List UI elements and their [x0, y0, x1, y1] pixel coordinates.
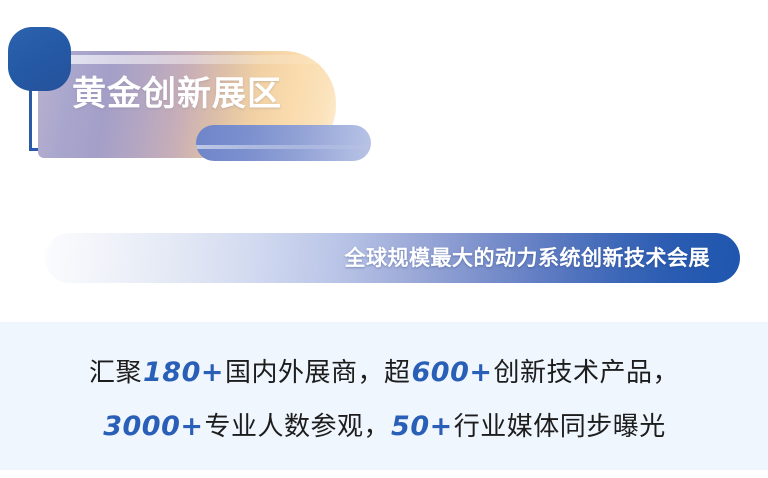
- blue-pill-decor: [196, 125, 371, 161]
- stat-text: 行业媒体同步曝光: [454, 412, 666, 442]
- stat-number: 180+: [142, 357, 225, 388]
- stat-text: 创新技术产品，: [493, 358, 679, 388]
- stat-text: 专业人数参观，: [205, 412, 391, 442]
- stat-text: 国内外展商，超: [225, 358, 411, 388]
- stats-line-2: 3000+专业人数参观，50+行业媒体同步曝光: [0, 406, 768, 443]
- stat-number: 50+: [390, 411, 454, 442]
- stat-number: 3000+: [102, 411, 204, 442]
- stats-line-1: 汇聚180+国内外展商，超600+创新技术产品，: [0, 352, 768, 389]
- page-title: 黄金创新展区: [72, 77, 282, 111]
- stats-section: 汇聚180+国内外展商，超600+创新技术产品， 3000+专业人数参观，50+…: [0, 322, 768, 470]
- subtitle-banner-text: 全球规模最大的动力系统创新技术会展: [345, 233, 711, 283]
- rounded-square-decor: [8, 27, 71, 91]
- subtitle-banner: 全球规模最大的动力系统创新技术会展: [45, 233, 740, 283]
- promo-banner-page: 黄金创新展区 全球规模最大的动力系统创新技术会展 汇聚180+国内外展商，超60…: [0, 0, 768, 478]
- stat-number: 600+: [411, 357, 494, 388]
- stat-text: 汇聚: [89, 358, 142, 388]
